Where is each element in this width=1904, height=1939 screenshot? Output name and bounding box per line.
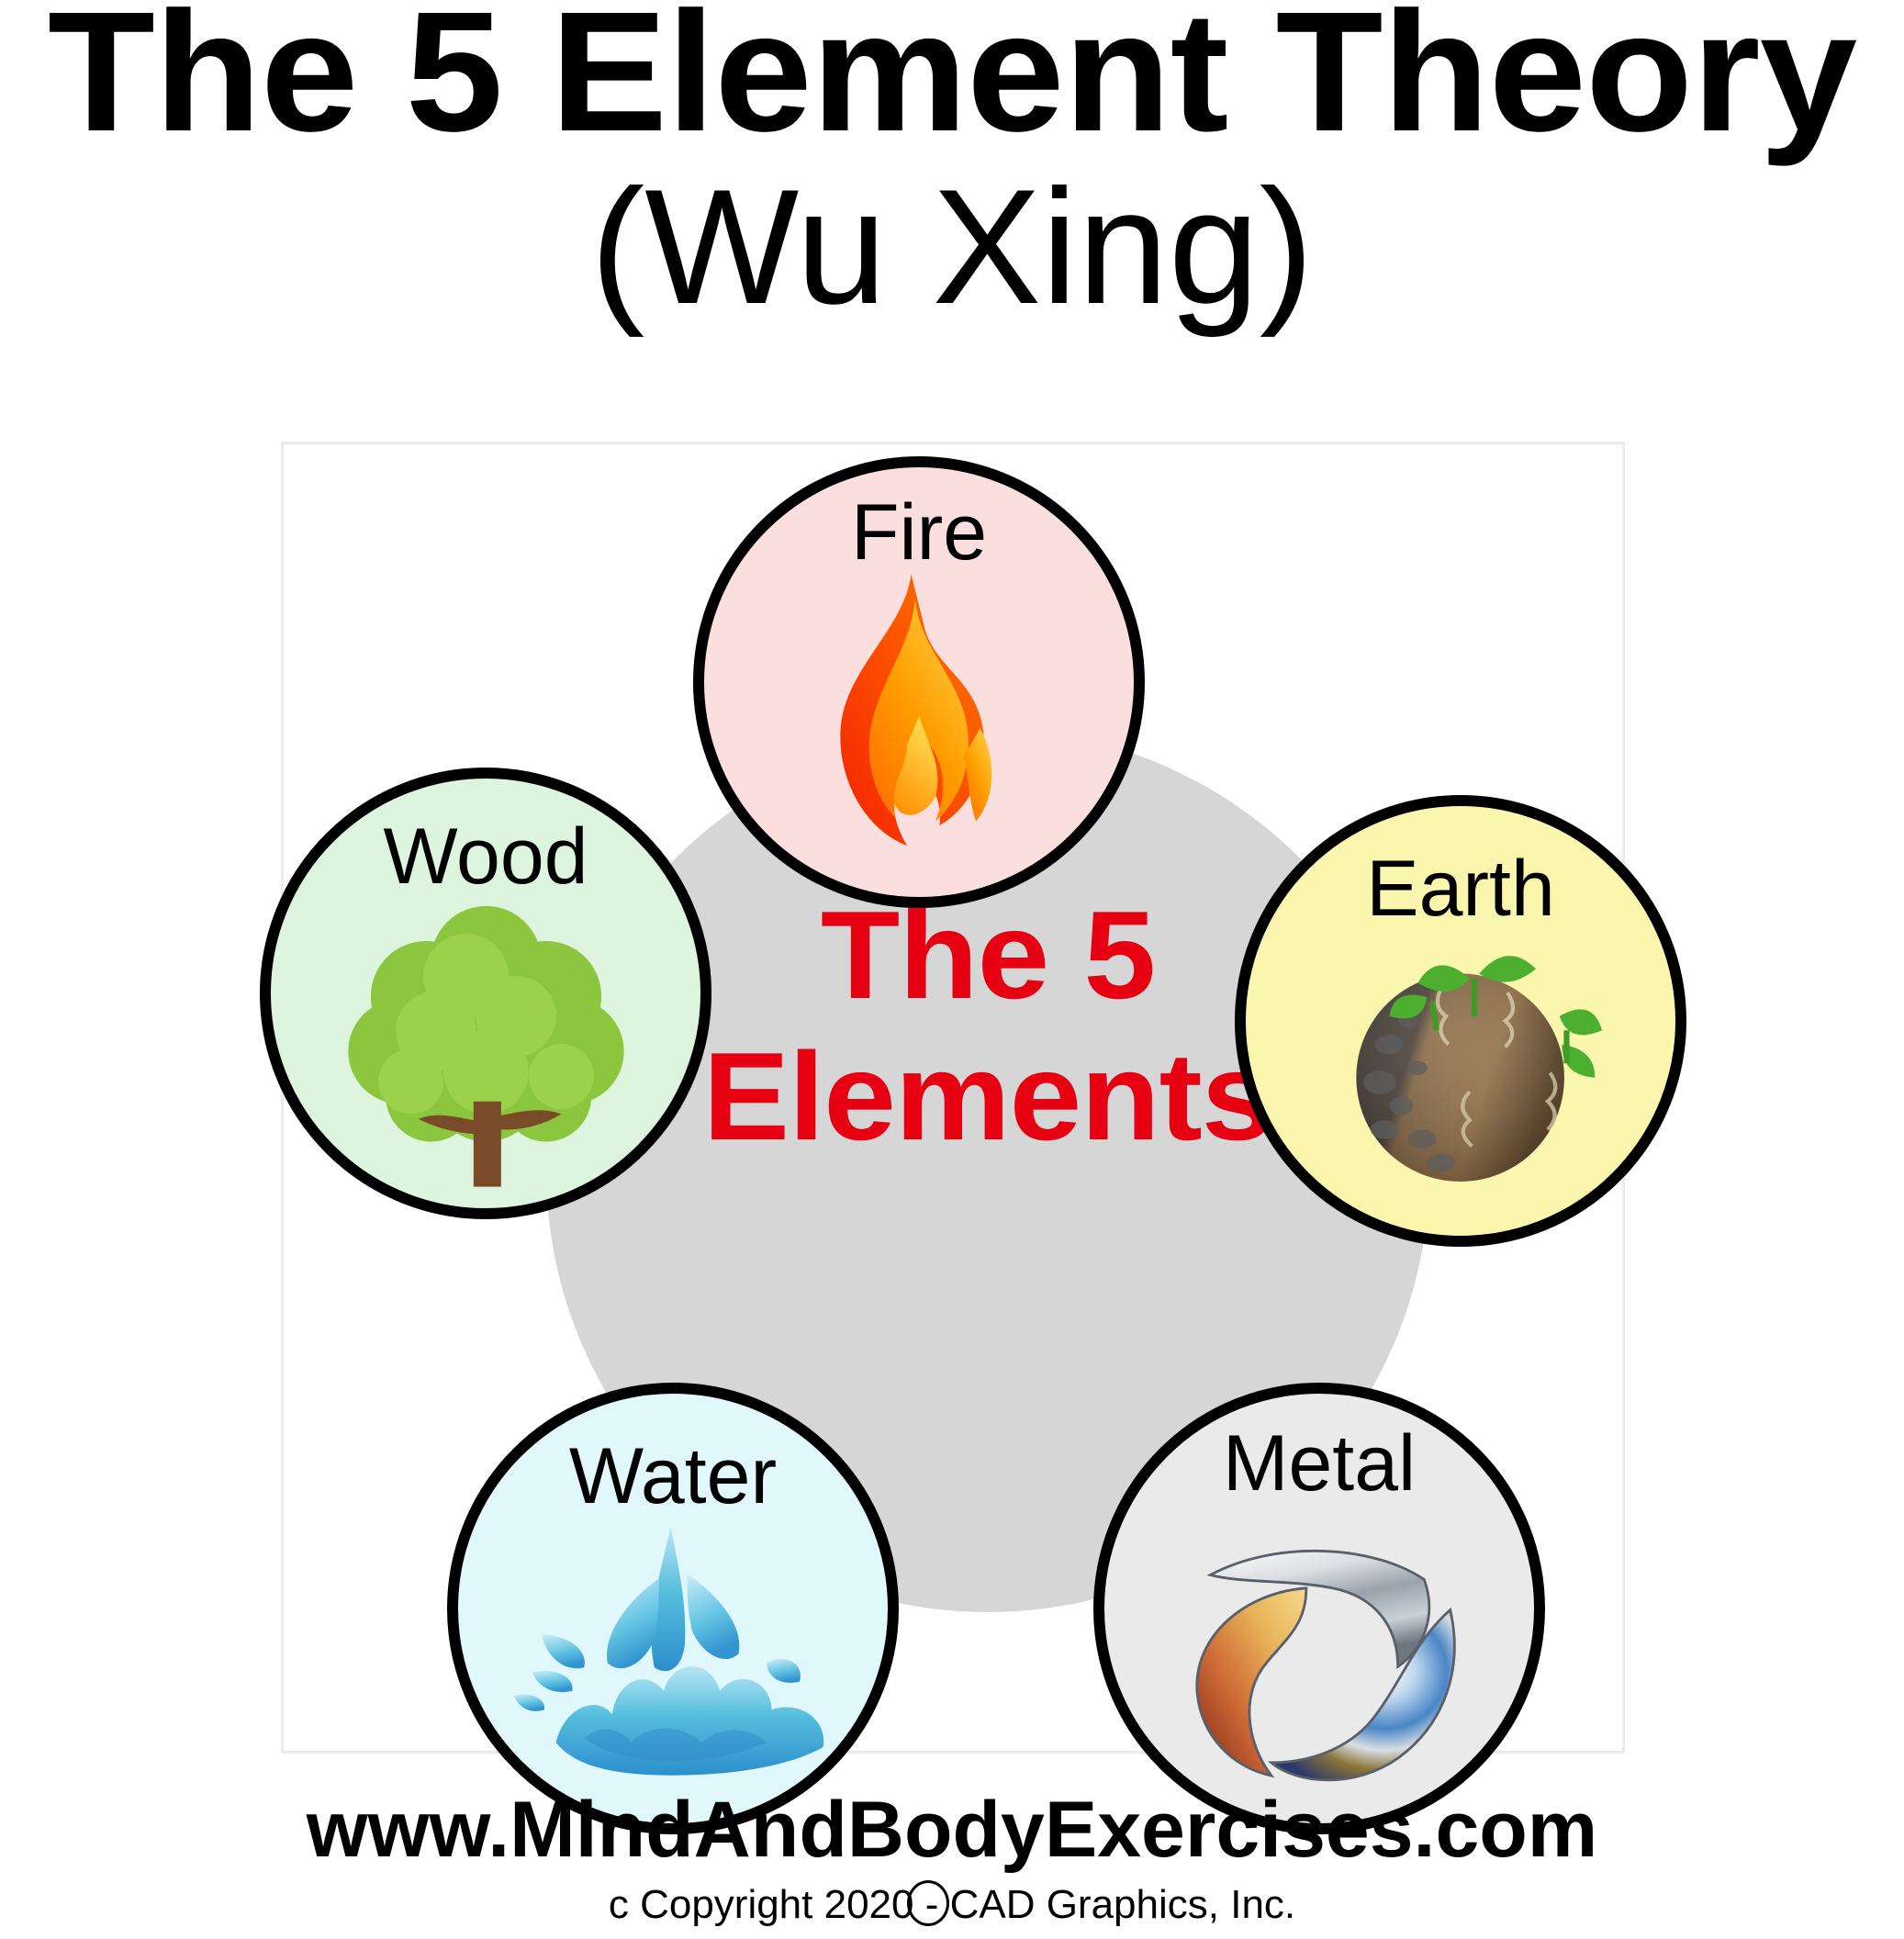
element-circle-metal[interactable]: Metal [1093, 1383, 1545, 1834]
metal-swirl-icon [1148, 1514, 1500, 1798]
element-label-fire: Fire [704, 493, 1134, 572]
page-title: The 5 Element Theory (Wu Xing) [0, 0, 1904, 331]
title-main: The 5 Element Theory [0, 0, 1904, 158]
footer: www.MindAndBodyExercises.com c Copyright… [0, 1788, 1904, 1928]
element-label-earth: Earth [1246, 849, 1675, 928]
element-circle-earth[interactable]: Earth [1235, 795, 1686, 1247]
element-circle-fire[interactable]: Fire [693, 456, 1145, 908]
tree-icon [331, 886, 641, 1187]
copyright-notice: c Copyright 2020 - CAD Graphics, Inc. [609, 1882, 1295, 1928]
element-circle-water[interactable]: Water [447, 1383, 899, 1834]
five-element-diagram: The 5 Elements Fire [281, 442, 1625, 1754]
element-circle-wood[interactable]: Wood [260, 768, 711, 1219]
poster-page: The 5 Element Theory (Wu Xing) The 5 Ele… [0, 0, 1904, 1939]
element-label-wood: Wood [271, 817, 700, 896]
soil-sprout-icon [1315, 926, 1616, 1210]
diagram-stage: The 5 Elements Fire [284, 444, 1622, 1751]
copyright-circle-icon [907, 1880, 949, 1926]
element-label-metal: Metal [1104, 1424, 1534, 1503]
title-subtitle: (Wu Xing) [0, 162, 1904, 331]
website-link[interactable]: www.MindAndBodyExercises.com [0, 1788, 1904, 1871]
water-splash-icon [501, 1522, 845, 1780]
copyright-text: c Copyright 2020 - CAD Graphics, Inc. [609, 1882, 1295, 1927]
flame-icon [816, 570, 1023, 854]
element-label-water: Water [458, 1437, 888, 1516]
